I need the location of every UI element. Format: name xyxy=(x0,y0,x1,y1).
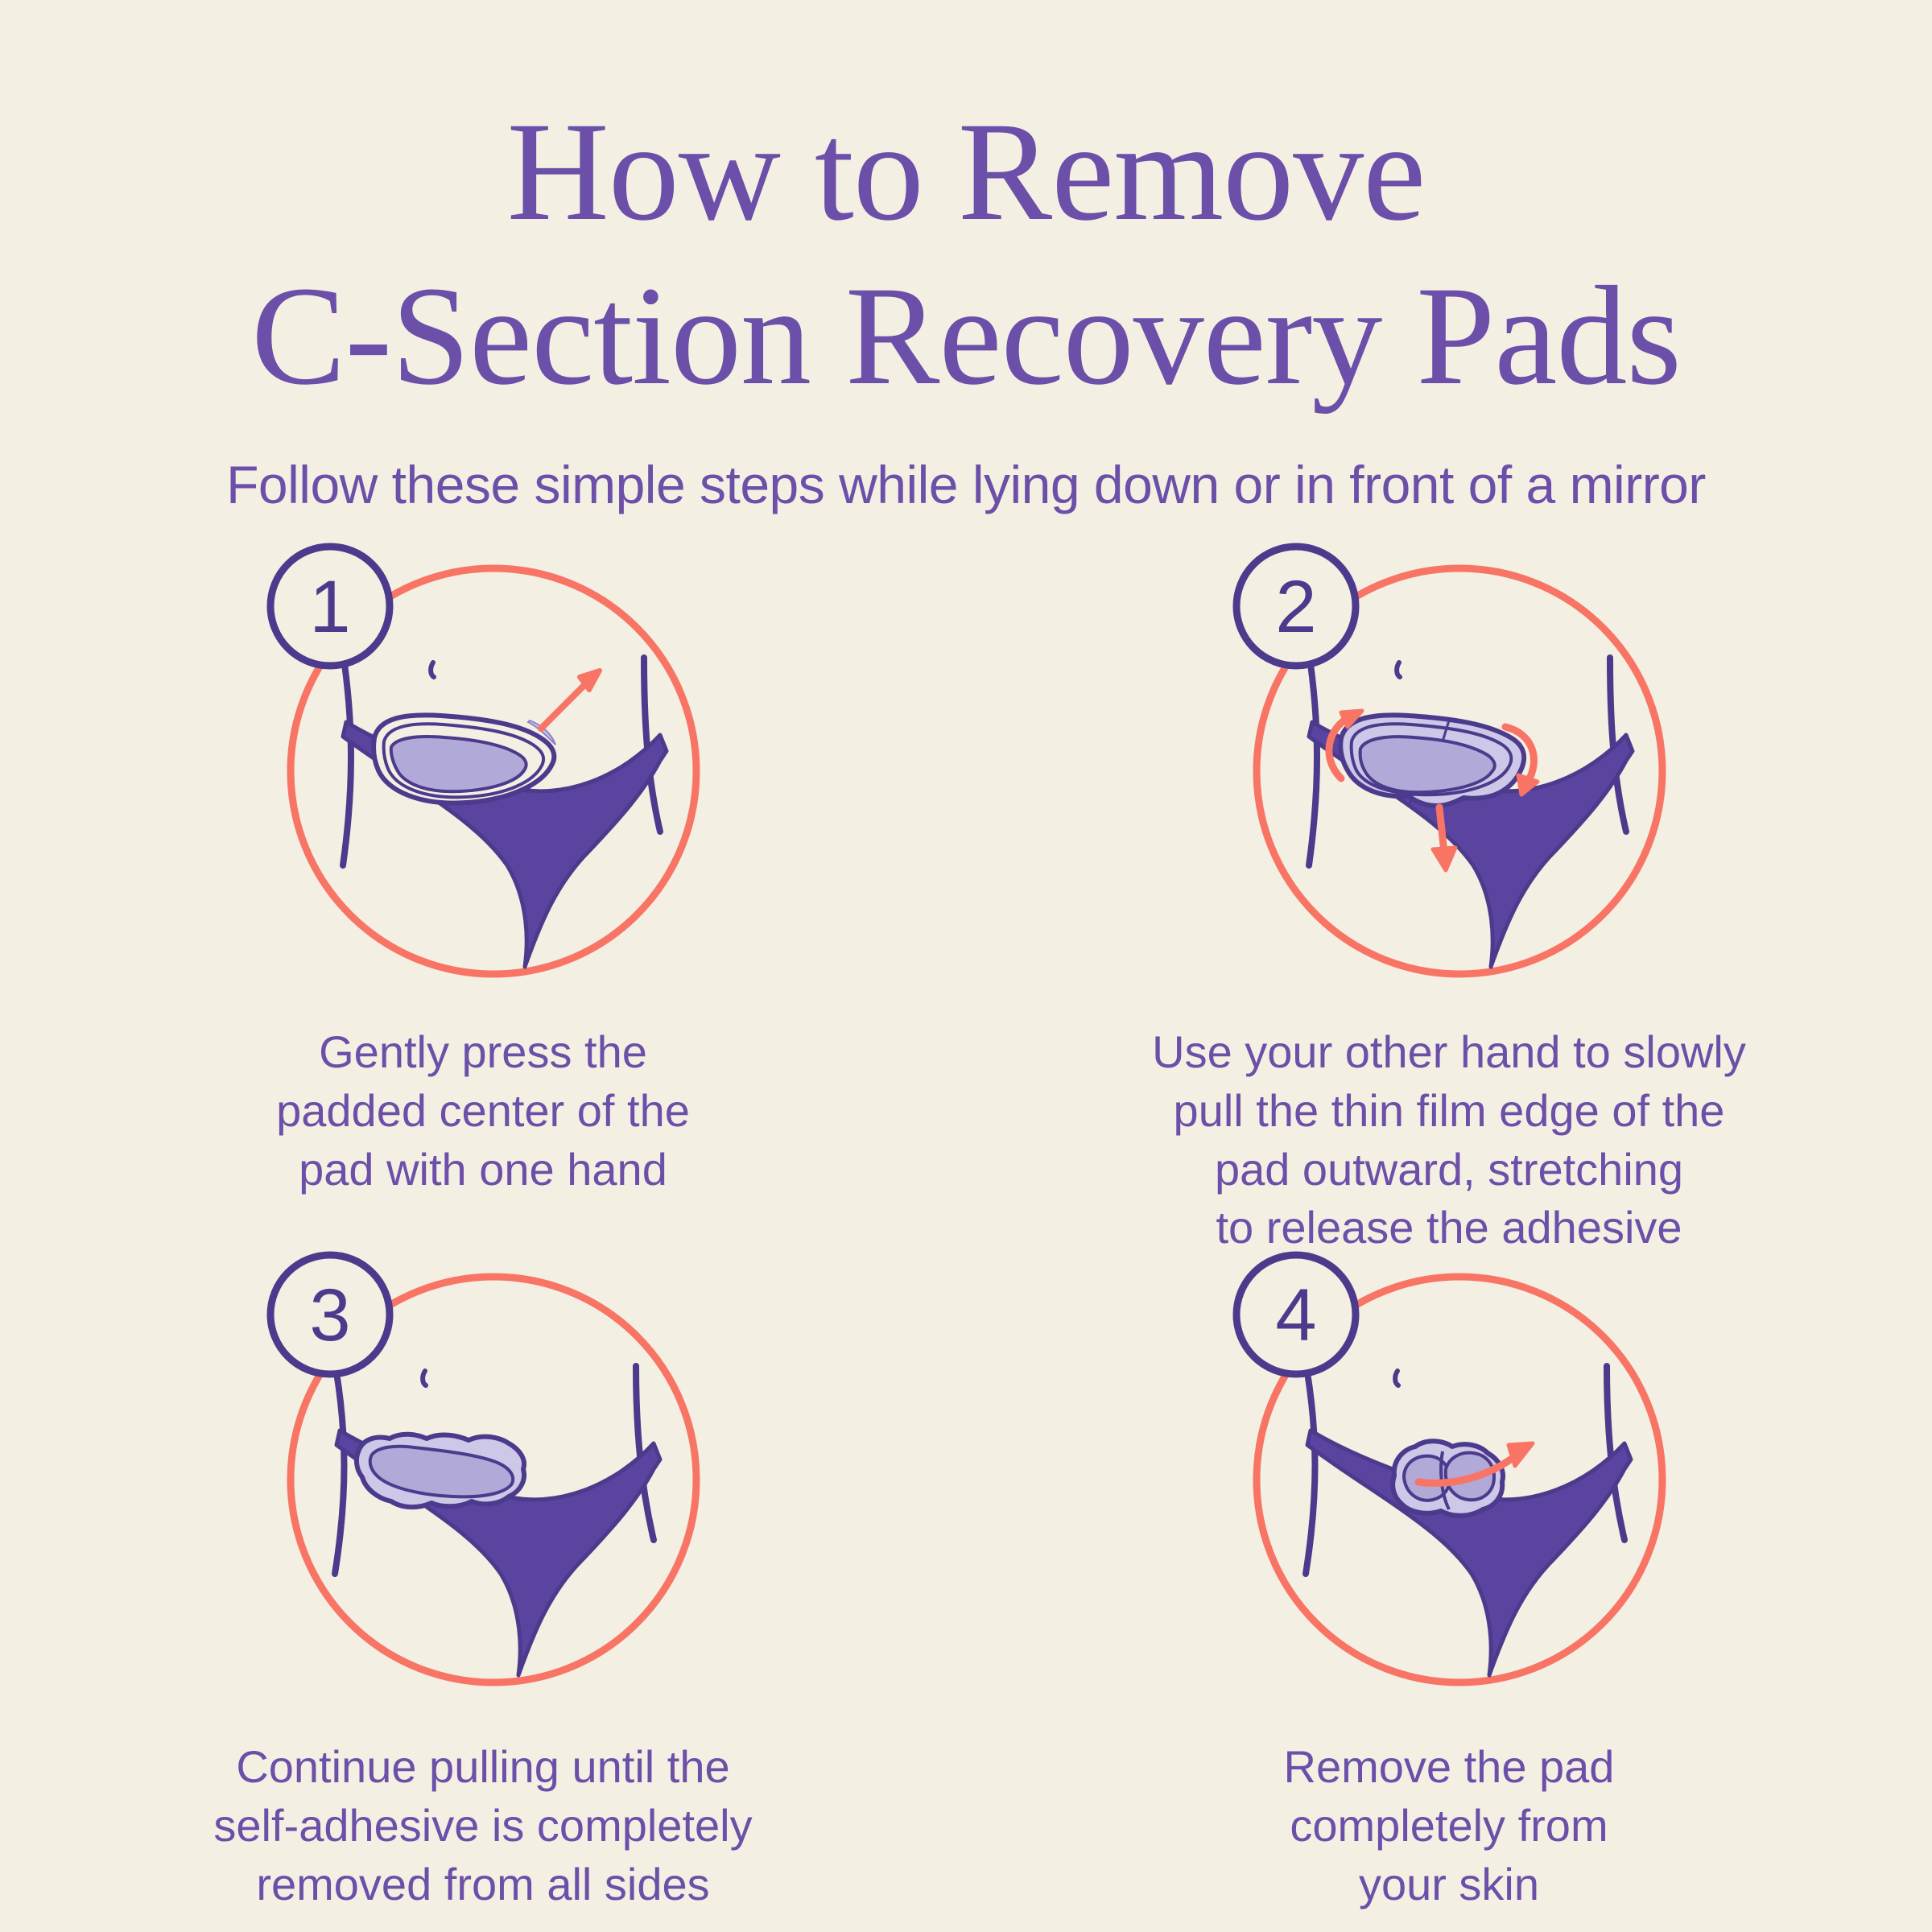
header: How to Remove C-Section Recovery Pads Fo… xyxy=(0,0,1932,515)
caption-line: your skin xyxy=(1284,1856,1615,1914)
caption-line: padded center of the xyxy=(276,1082,690,1141)
navel-icon xyxy=(423,1371,426,1385)
caption-line: Remove the pad xyxy=(1284,1738,1615,1797)
step-number-badge: 4 xyxy=(1236,1255,1356,1374)
step-number-text: 4 xyxy=(1275,1274,1316,1356)
step-1-caption: Gently press the padded center of the pa… xyxy=(276,1002,690,1199)
step-1: 1 Gently press the padded center of the … xyxy=(0,519,966,1228)
navel-icon xyxy=(1395,1371,1398,1385)
title-line-2: C-Section Recovery Pads xyxy=(0,254,1932,419)
step-4-caption: Remove the pad completely from your skin xyxy=(1284,1711,1615,1913)
step-number-text: 3 xyxy=(309,1274,350,1356)
arrow-up-right-icon xyxy=(541,671,600,729)
caption-line: pad outward, stretching xyxy=(1152,1141,1746,1199)
page-title: How to Remove C-Section Recovery Pads xyxy=(0,0,1932,419)
page-subtitle: Follow these simple steps while lying do… xyxy=(0,419,1932,515)
step-number-badge: 3 xyxy=(270,1255,390,1374)
step-2: 2 Use your other hand to slowly pull the… xyxy=(966,519,1932,1228)
caption-line: self-adhesive is completely xyxy=(213,1797,752,1856)
step-3-caption: Continue pulling until the self-adhesive… xyxy=(213,1711,752,1913)
step-2-caption: Use your other hand to slowly pull the t… xyxy=(1152,1002,1746,1257)
caption-line: removed from all sides xyxy=(213,1856,752,1914)
title-line-1: How to Remove xyxy=(0,90,1932,254)
step-4: 4 Remove the pad completely from your sk… xyxy=(966,1228,1932,1932)
step-1-illustration: 1 xyxy=(242,519,724,1002)
step-3-illustration: 3 xyxy=(242,1228,724,1711)
step-number-text: 2 xyxy=(1275,566,1316,648)
step-number-badge: 2 xyxy=(1236,547,1356,666)
step-number-text: 1 xyxy=(309,566,350,648)
step-number-badge: 1 xyxy=(270,547,390,666)
infographic-page: How to Remove C-Section Recovery Pads Fo… xyxy=(0,0,1932,1932)
torso-left-flank xyxy=(335,1373,345,1574)
step-4-illustration: 4 xyxy=(1207,1228,1690,1711)
caption-line: completely from xyxy=(1284,1797,1615,1856)
torso-left-flank xyxy=(1309,664,1317,865)
caption-line: pull the thin film edge of the xyxy=(1152,1082,1746,1141)
caption-line: Gently press the xyxy=(276,1023,690,1082)
step-3: 3 Continue pulling until the self-adhesi… xyxy=(0,1228,966,1932)
caption-line: Use your other hand to slowly xyxy=(1152,1023,1746,1082)
caption-line: pad with one hand xyxy=(276,1141,690,1199)
caption-line: Continue pulling until the xyxy=(213,1738,752,1797)
torso-left-flank xyxy=(1306,1373,1315,1574)
steps-grid: 1 Gently press the padded center of the … xyxy=(0,519,1932,1932)
step-2-illustration: 2 xyxy=(1207,519,1690,1002)
navel-icon xyxy=(431,663,434,677)
torso-left-flank xyxy=(343,664,351,865)
navel-icon xyxy=(1397,663,1400,677)
